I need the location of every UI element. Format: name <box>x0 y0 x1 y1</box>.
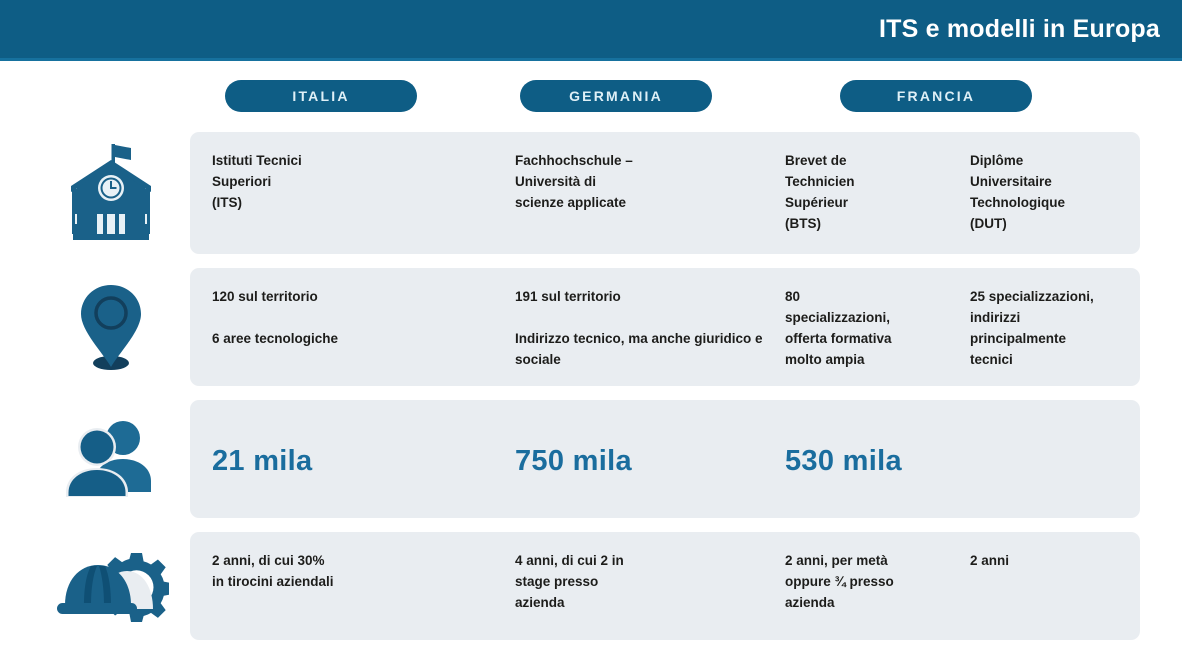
row-distribution: 120 sul territorio 6 aree tecnologiche 1… <box>0 268 1182 386</box>
cell-germania-distribution: 191 sul territorio Indirizzo tecnico, ma… <box>515 286 770 370</box>
cell-francia-bts-denomination: Brevet de Technicien Supérieur (BTS) <box>785 150 960 234</box>
bignum-germania: 750 mila <box>515 445 632 478</box>
header-bar: ITS e modelli in Europa <box>0 0 1182 58</box>
cell-francia-bts-distribution: 80 specializzazioni, offerta formativa m… <box>785 286 960 370</box>
row-students-panel: 21 mila 750 mila 530 mila <box>190 400 1140 518</box>
row-denomination: Istituti Tecnici Superiori (ITS) Fachhoc… <box>0 132 1182 254</box>
people-icon <box>46 400 176 518</box>
country-pill-row: ITALIA GERMANIA FRANCIA <box>0 80 1182 114</box>
school-building-icon <box>46 132 176 254</box>
row-students: 21 mila 750 mila 530 mila <box>0 400 1182 518</box>
row-duration: 2 anni, di cui 30% in tirocini aziendali… <box>0 532 1182 640</box>
cell-germania-duration: 4 anni, di cui 2 in stage presso azienda <box>515 550 770 613</box>
location-pin-icon <box>46 268 176 386</box>
row-duration-panel: 2 anni, di cui 30% in tirocini aziendali… <box>190 532 1140 640</box>
bignum-italia: 21 mila <box>212 445 312 478</box>
row-distribution-panel: 120 sul territorio 6 aree tecnologiche 1… <box>190 268 1140 386</box>
country-pill-italia[interactable]: ITALIA <box>225 80 417 112</box>
row-denomination-panel: Istituti Tecnici Superiori (ITS) Fachhoc… <box>190 132 1140 254</box>
header-divider <box>0 58 1182 61</box>
cell-italia-distribution: 120 sul territorio 6 aree tecnologiche <box>212 286 502 349</box>
country-pill-francia[interactable]: FRANCIA <box>840 80 1032 112</box>
country-pill-germania[interactable]: GERMANIA <box>520 80 712 112</box>
cell-francia-dut-denomination: Diplôme Universitaire Technologique (DUT… <box>970 150 1135 234</box>
helmet-gear-icon <box>46 532 176 640</box>
cell-francia-dut-distribution: 25 specializzazioni, indirizzi principal… <box>970 286 1135 370</box>
cell-francia-bts-duration: 2 anni, per metà oppure ¾ presso azienda <box>785 550 960 613</box>
cell-germania-denomination: Fachhochschule – Università di scienze a… <box>515 150 770 213</box>
page-title: ITS e modelli in Europa <box>879 15 1182 44</box>
cell-italia-denomination: Istituti Tecnici Superiori (ITS) <box>212 150 502 213</box>
cell-italia-duration: 2 anni, di cui 30% in tirocini aziendali <box>212 550 502 592</box>
bignum-francia: 530 mila <box>785 445 902 478</box>
cell-francia-dut-duration: 2 anni <box>970 550 1135 571</box>
